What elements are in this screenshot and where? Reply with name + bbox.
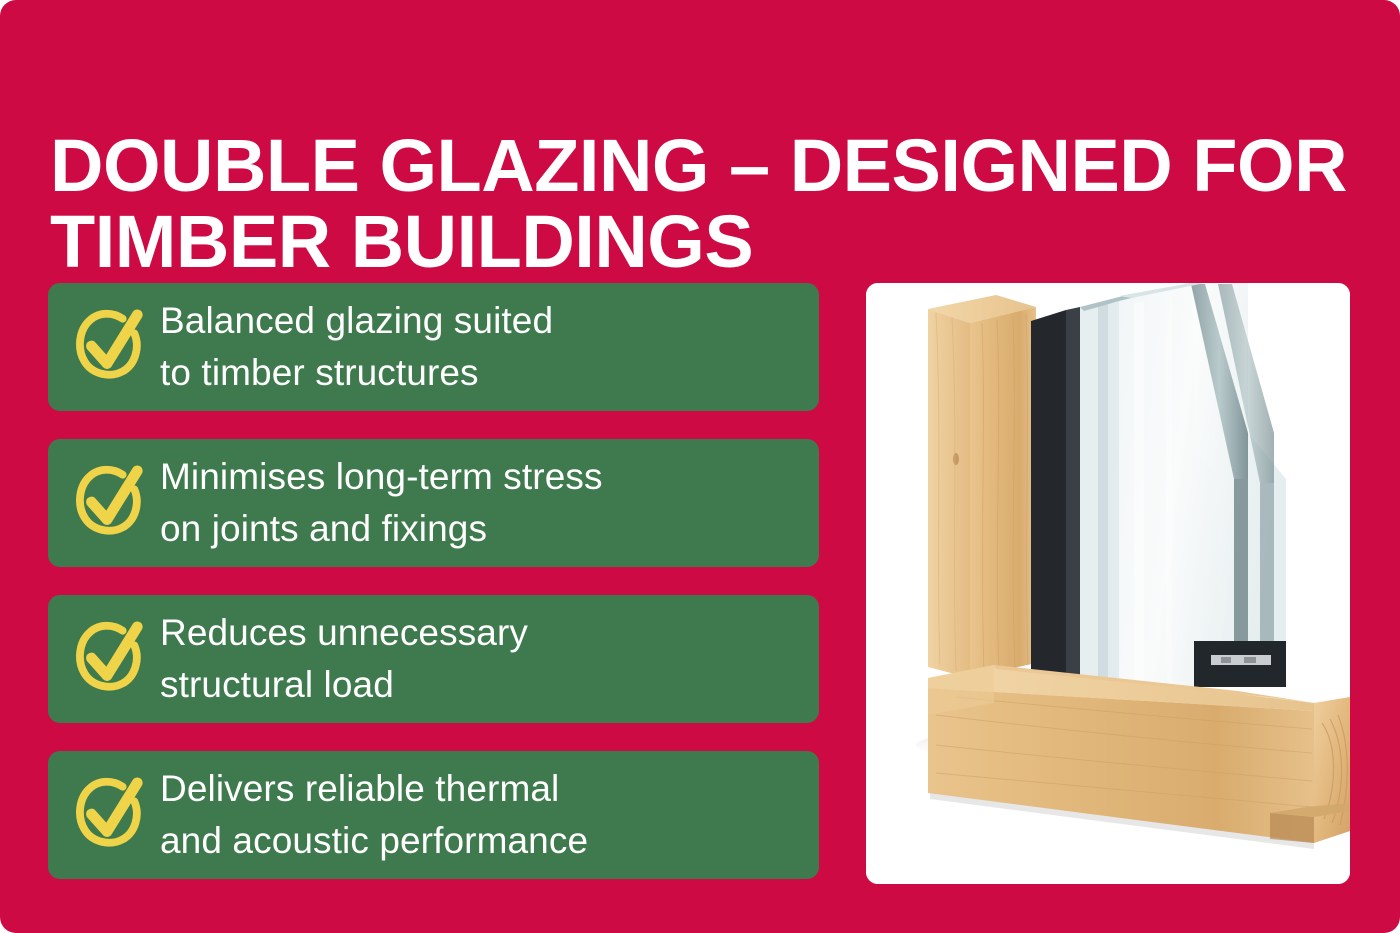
- benefit-text: Delivers reliable thermal and acoustic p…: [160, 763, 588, 867]
- benefit-card-4: Delivers reliable thermal and acoustic p…: [48, 751, 819, 879]
- check-circle-icon: [70, 306, 148, 388]
- timber-window-cutaway-illustration: [866, 283, 1350, 884]
- benefits-list: Balanced glazing suited to timber struct…: [48, 283, 819, 879]
- check-circle-icon: [70, 774, 148, 856]
- check-circle-icon: [70, 462, 148, 544]
- benefit-card-1: Balanced glazing suited to timber struct…: [48, 283, 819, 411]
- page-title: DOUBLE GLAZING – DESIGNED FOR TIMBER BUI…: [50, 128, 1350, 280]
- benefit-text: Balanced glazing suited to timber struct…: [160, 295, 553, 399]
- infographic-poster: DOUBLE GLAZING – DESIGNED FOR TIMBER BUI…: [0, 0, 1400, 933]
- benefit-card-3: Reduces unnecessary structural load: [48, 595, 819, 723]
- product-image-panel: [866, 283, 1350, 884]
- benefit-text: Reduces unnecessary structural load: [160, 607, 528, 711]
- benefit-text: Minimises long-term stress on joints and…: [160, 451, 603, 555]
- check-circle-icon: [70, 618, 148, 700]
- benefit-card-2: Minimises long-term stress on joints and…: [48, 439, 819, 567]
